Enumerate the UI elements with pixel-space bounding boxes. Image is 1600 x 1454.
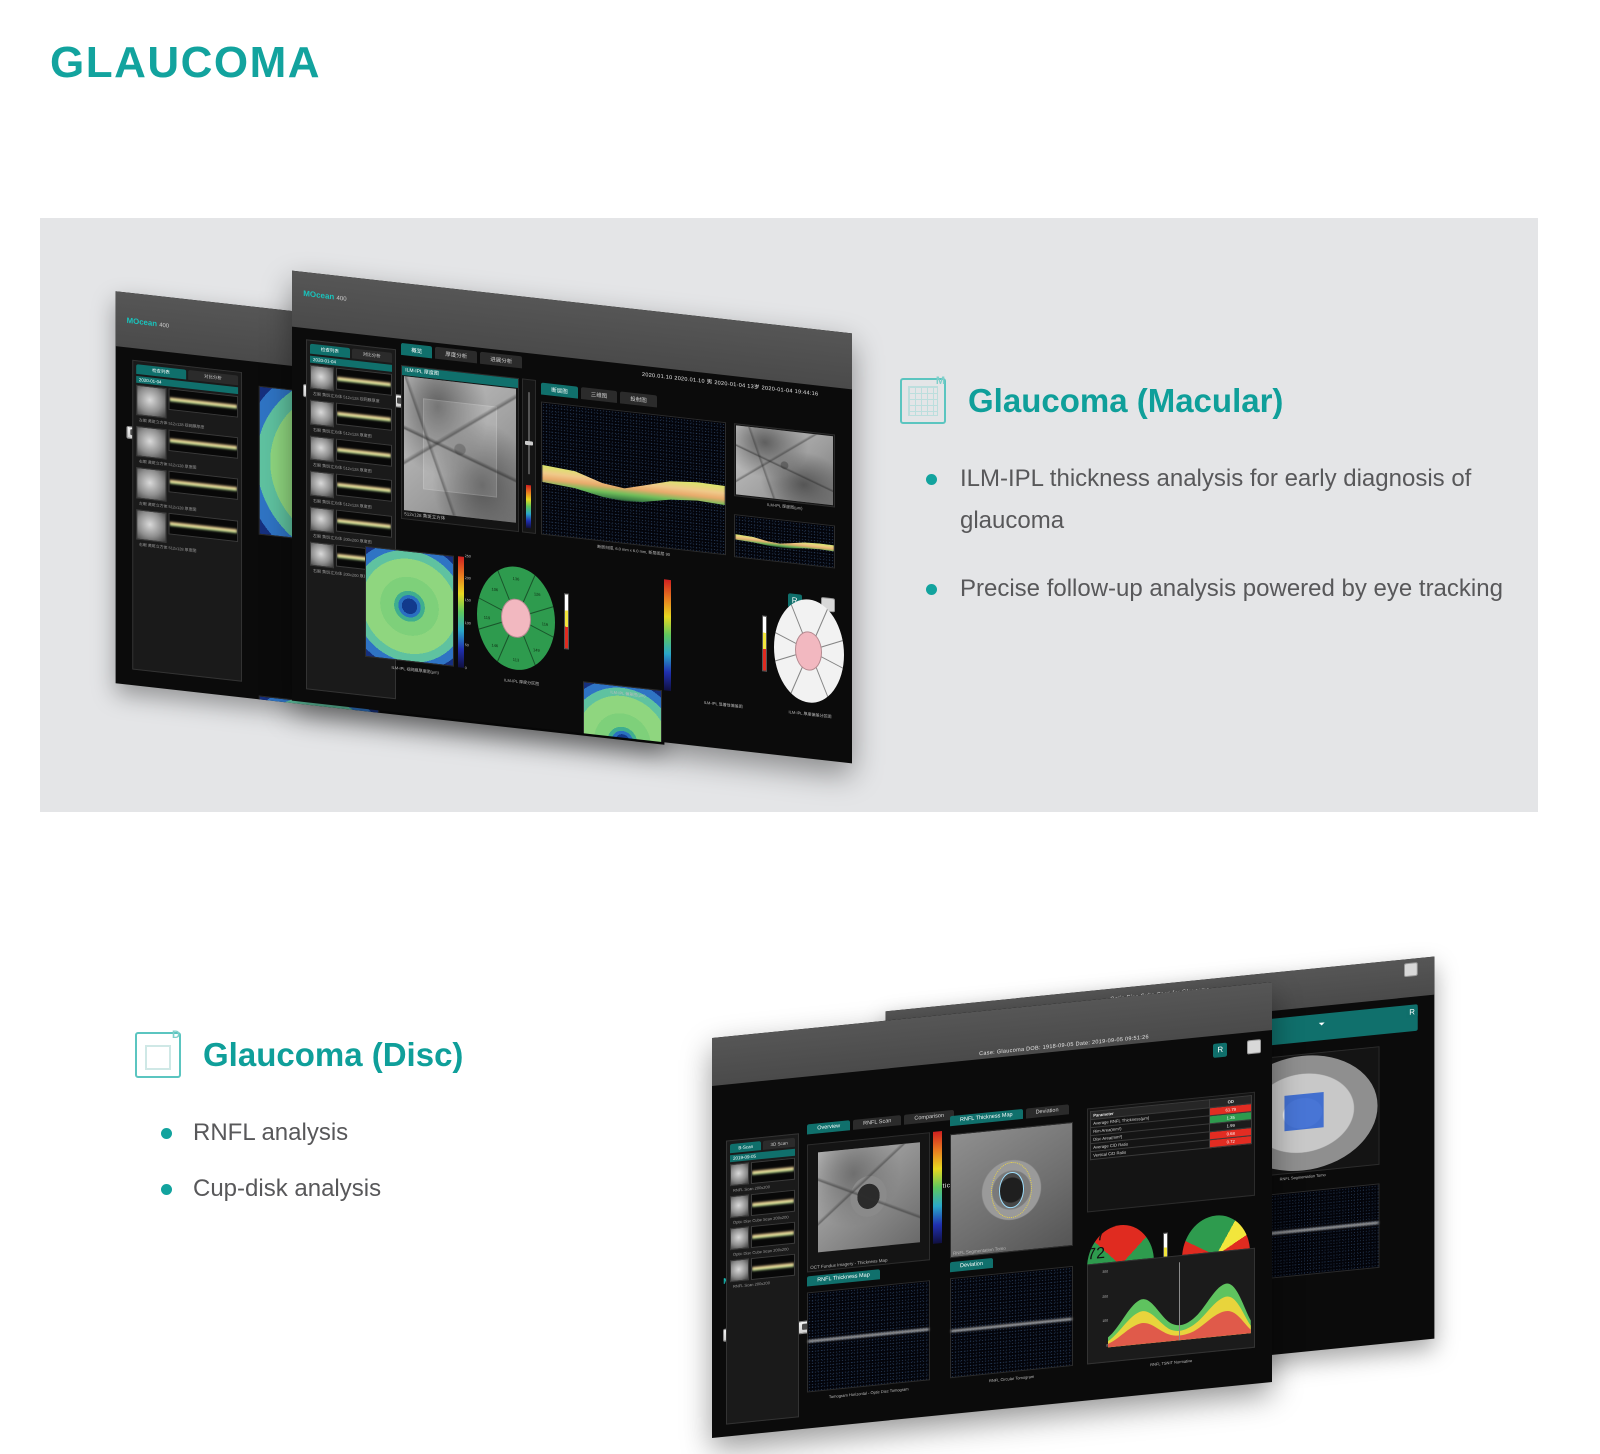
thumbnail-bscan: [751, 1190, 794, 1216]
feature-macular: M Glaucoma (Macular) ILM-IPL thickness a…: [900, 378, 1520, 636]
rnfl-segmentation-panel[interactable]: RNFL Segmentation Tomo: [950, 1122, 1073, 1258]
side-enface: [734, 423, 835, 507]
thumbnail-bscan: [169, 512, 238, 541]
thumbnail-bscan: [169, 430, 238, 459]
tab-tomogram-mid[interactable]: Deviation: [950, 1258, 993, 1272]
save-icon[interactable]: [1247, 1039, 1261, 1054]
thumbnail-fundus: [310, 471, 334, 498]
thumbnail-disc: [730, 1258, 749, 1282]
scale-tick: 250: [465, 555, 471, 559]
panel-caption: RNFL Segmentation Tomo: [953, 1246, 1006, 1256]
list-item: RNFL analysis: [135, 1112, 463, 1154]
macular-front-window[interactable]: MOcean 400 2020.01.10 2020.01.10 男 2020-…: [292, 271, 852, 764]
etdrs-sector-wheel: 136 126 116 149 113 146 119 106: [477, 562, 555, 674]
scale-tick: 100: [465, 622, 471, 626]
wheel-hub: [795, 630, 822, 672]
deviation-sector-wheel: [774, 595, 844, 706]
thumbnail-bscan: [336, 403, 391, 431]
side-bscan: [734, 514, 835, 568]
thumbnail-fundus: [310, 435, 334, 462]
reference-line: [1179, 1262, 1180, 1341]
enface-panel[interactable]: ILM-IPL 厚度图 512x128 黄斑立方体: [401, 365, 519, 533]
tab-tomogram[interactable]: 断层图: [541, 382, 578, 398]
tab-rnfl-scan[interactable]: RNFL Scan: [853, 1115, 901, 1130]
color-bar: [933, 1131, 942, 1244]
main-tabs[interactable]: Overview RNFL Scan Comparison: [807, 1110, 954, 1135]
macular-grid-icon: M: [900, 378, 946, 424]
scale-tick: 150: [465, 599, 471, 603]
thickness-color-bar: 250 200 150 100 50 0: [458, 556, 464, 668]
icon-superscript: M: [936, 376, 945, 387]
thickness-overlay: [1284, 1092, 1323, 1131]
sector-value: 126: [534, 591, 541, 597]
panel-caption: OCT Fundus Imagery - Thickness Map: [810, 1257, 887, 1270]
thumbnail-fundus: [136, 426, 167, 460]
sector-value: 106: [491, 586, 498, 592]
list-item: Cup-disk analysis: [135, 1168, 463, 1210]
tab-rnfl-thickness[interactable]: RNFL Thickness Map: [950, 1109, 1023, 1126]
feature-title: Glaucoma (Macular): [968, 382, 1283, 420]
list-item: ILM-IPL thickness analysis for early dia…: [900, 458, 1520, 542]
tab-tomogram-left[interactable]: RNFL Thickness Map: [807, 1269, 880, 1286]
thumbnail-fundus: [136, 385, 167, 419]
y-axis: 300 200 100 0: [1090, 1269, 1108, 1349]
feature-bullets: RNFL analysis Cup-disk analysis: [135, 1112, 463, 1210]
thumbnail-bscan: [751, 1222, 794, 1248]
plot-area: [1108, 1255, 1251, 1348]
feature-header: M Glaucoma (Macular): [900, 378, 1520, 424]
fundus-image: [404, 376, 516, 523]
tab-deviation[interactable]: Deviation: [1026, 1104, 1069, 1118]
panel-caption: ILM-IPL 显著性偏差图: [678, 697, 768, 713]
slider-thumb[interactable]: [525, 441, 533, 446]
oct-fundus-panel[interactable]: OCT Fundus Imagery - Thickness Map: [807, 1132, 930, 1272]
thumbnail-bscan: [336, 474, 391, 502]
feature-header: D Glaucoma (Disc): [135, 1032, 463, 1078]
feature-disc: D Glaucoma (Disc) RNFL analysis Cup-disk…: [135, 1032, 463, 1224]
sector-value: 146: [491, 643, 498, 649]
bscan-tabs-2[interactable]: Deviation: [950, 1258, 993, 1272]
scan-roi[interactable]: [424, 400, 495, 497]
feature-bullets: ILM-IPL thickness analysis for early dia…: [900, 458, 1520, 610]
thumbnail-disc: [730, 1162, 749, 1186]
fundus-image-small: [736, 426, 833, 506]
tab-projection[interactable]: 投射图: [620, 391, 657, 407]
panel-caption: ILM-IPL 厚度偏差分区图: [768, 707, 852, 722]
window-chrome: [712, 982, 1272, 1086]
thumbnail-bscan: [336, 438, 391, 466]
wheel-hub: [501, 597, 531, 640]
sidebar-tab-1[interactable]: 3D Scan: [763, 1138, 794, 1150]
thumbnail-fundus: [136, 509, 167, 543]
tab-overview[interactable]: Overview: [807, 1120, 850, 1134]
tab-progression[interactable]: 进展分析: [480, 352, 522, 369]
thumbnail-bscan: [336, 509, 391, 537]
thumbnail-fundus: [310, 506, 334, 533]
page-title: GLAUCOMA: [50, 38, 321, 88]
thumbnail-fundus: [310, 364, 334, 391]
sector-value: 113: [513, 657, 519, 663]
list-item: Precise follow-up analysis powered by ey…: [900, 568, 1520, 610]
significance-legend: [762, 616, 767, 672]
sidebar[interactable]: 检查列表 对比分析 2020-01-04 左眼 黄斑立方体 512x128 视网…: [132, 360, 242, 682]
brand-model: 400: [159, 323, 169, 330]
feature-title: Glaucoma (Disc): [203, 1036, 463, 1074]
bscan-main[interactable]: [541, 402, 726, 556]
scale-tick: 50: [465, 644, 471, 648]
thumbnail-bscan: [751, 1254, 794, 1280]
tab-thickness[interactable]: 厚度分析: [435, 347, 477, 364]
tsnit-chart: 300 200 100 0: [1087, 1248, 1255, 1365]
bscan-tabs[interactable]: RNFL Thickness Map: [807, 1269, 880, 1286]
slider-track[interactable]: [528, 392, 530, 475]
panel-caption: ILM-IPL 厚度分区图: [477, 674, 567, 690]
disc-front-window[interactable]: Case: Glaucoma DOB: 1918-09-05 Date: 201…: [712, 982, 1272, 1438]
brand-model: 400: [337, 296, 347, 303]
color-bar: [526, 485, 532, 528]
bscan-slider[interactable]: [522, 378, 537, 534]
save-icon[interactable]: [1404, 962, 1418, 977]
right-eye-badge[interactable]: R: [1213, 1042, 1227, 1057]
sidebar-tab-0[interactable]: B-Scan: [730, 1141, 761, 1153]
sector-value: 116: [542, 621, 548, 627]
parameter-table: Parameter OD Average RNFL Thickness(μm) …: [1090, 1095, 1252, 1160]
sector-value: 119: [484, 614, 490, 620]
tab-overview[interactable]: 概览: [401, 343, 432, 358]
optic-disc: [848, 1171, 889, 1221]
icon-superscript: D: [172, 1030, 180, 1041]
thumbnail-bscan: [169, 471, 238, 500]
sub-tabs[interactable]: RNFL Thickness Map Deviation: [950, 1104, 1069, 1126]
thumbnail-disc: [730, 1194, 749, 1218]
thumbnail-fundus: [310, 542, 334, 569]
thumbnail-fundus: [136, 467, 167, 501]
thumbnail-bscan: [336, 367, 391, 395]
tab-comparison[interactable]: Comparison: [904, 1110, 954, 1125]
sector-value: 136: [513, 576, 520, 582]
sidebar[interactable]: B-Scan 3D Scan 2019-09-05 RNFL Scan 200x…: [726, 1133, 799, 1424]
fundus-image: [818, 1142, 920, 1253]
tab-3d[interactable]: 三维图: [581, 387, 618, 403]
bscan-horizontal: [807, 1280, 930, 1392]
thumbnail-fundus: [310, 400, 334, 427]
bscan-circular: [950, 1266, 1073, 1378]
right-eye-badge[interactable]: R: [1406, 1006, 1418, 1018]
sector-value: 149: [533, 648, 540, 654]
scale-tick: 200: [465, 577, 471, 581]
thumbnail-bscan: [751, 1158, 794, 1184]
thickness-scale: 250 200 150 100 50 0: [465, 555, 471, 671]
disc-square-icon: D: [135, 1032, 181, 1078]
significance-legend: [564, 593, 569, 649]
scale-tick: 0: [465, 667, 471, 671]
ilm-ipl-thickness-map: [365, 545, 455, 667]
parameter-table-panel: Parameter OD Average RNFL Thickness(μm) …: [1087, 1092, 1255, 1213]
chevron-down-icon[interactable]: [1319, 1023, 1325, 1029]
deviation-color-bar: [664, 579, 670, 691]
thumbnail-disc: [730, 1226, 749, 1250]
